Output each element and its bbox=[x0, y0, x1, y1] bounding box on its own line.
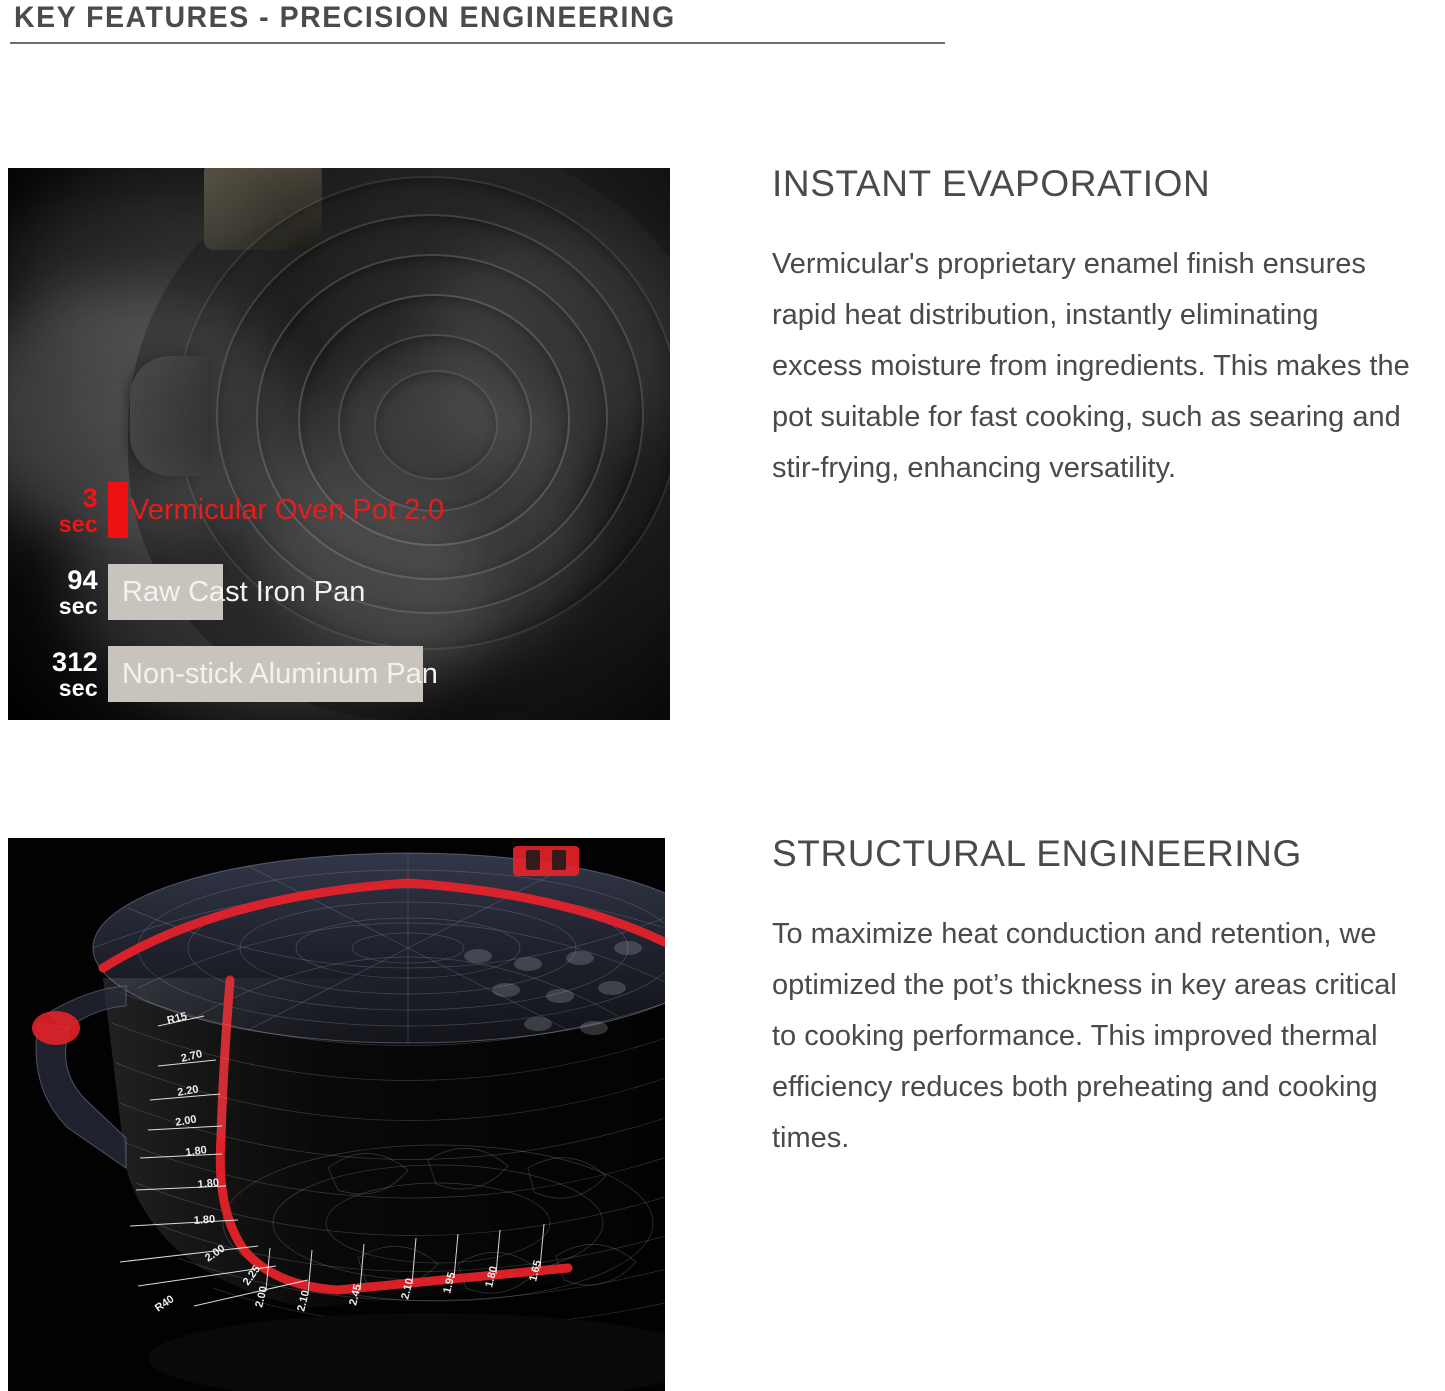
evaporation-text-block: INSTANT EVAPORATION Vermicular's proprie… bbox=[772, 163, 1412, 494]
svg-text:1.80: 1.80 bbox=[197, 1177, 220, 1191]
bar-value-unit: sec bbox=[8, 676, 98, 701]
cad-wireframe-svg: R15 2.70 2.20 2.00 1.80 1.80 1.80 2.00 2… bbox=[8, 838, 665, 1391]
bar-category-label: Non-stick Aluminum Pan bbox=[108, 658, 438, 691]
bar-category-label: Raw Cast Iron Pan bbox=[108, 576, 365, 609]
evaporation-bar-chart: 3 sec Vermicular Oven Pot 2.0 94 sec Raw… bbox=[8, 168, 670, 720]
svg-text:R40: R40 bbox=[153, 1293, 176, 1314]
evaporation-body: Vermicular's proprietary enamel finish e… bbox=[772, 239, 1412, 494]
bar-value-label: 94 sec bbox=[8, 566, 108, 619]
bar-value-number: 3 bbox=[83, 483, 98, 513]
chart-bar-row: 312 sec Non-stick Aluminum Pan bbox=[8, 646, 438, 702]
bar-track: Non-stick Aluminum Pan bbox=[108, 646, 438, 702]
bar-value-number: 312 bbox=[52, 647, 98, 677]
bar-value-label: 312 sec bbox=[8, 648, 108, 701]
bar-value-label: 3 sec bbox=[8, 484, 108, 537]
chart-bar-row: 3 sec Vermicular Oven Pot 2.0 bbox=[8, 482, 444, 538]
structure-media: R15 2.70 2.20 2.00 1.80 1.80 1.80 2.00 2… bbox=[8, 838, 665, 1391]
page-banner: KEY FEATURES - PRECISION ENGINEERING bbox=[0, 0, 945, 46]
bar-category-label: Vermicular Oven Pot 2.0 bbox=[108, 494, 444, 527]
svg-text:1.80: 1.80 bbox=[193, 1214, 215, 1227]
banner-divider bbox=[10, 42, 945, 44]
structure-body: To maximize heat conduction and retentio… bbox=[772, 909, 1412, 1164]
bar-value-unit: sec bbox=[8, 512, 98, 537]
evaporation-heading: INSTANT EVAPORATION bbox=[772, 163, 1412, 205]
cad-wireframe: R15 2.70 2.20 2.00 1.80 1.80 1.80 2.00 2… bbox=[8, 838, 665, 1391]
page-title: KEY FEATURES - PRECISION ENGINEERING bbox=[14, 1, 676, 35]
structure-heading: STRUCTURAL ENGINEERING bbox=[772, 833, 1412, 875]
evaporation-media: 3 sec Vermicular Oven Pot 2.0 94 sec Raw… bbox=[8, 168, 670, 720]
structure-text-block: STRUCTURAL ENGINEERING To maximize heat … bbox=[772, 833, 1412, 1164]
bar-track: Vermicular Oven Pot 2.0 bbox=[108, 482, 444, 538]
bar-value-number: 94 bbox=[67, 565, 98, 595]
bar-track: Raw Cast Iron Pan bbox=[108, 564, 365, 620]
bar-value-unit: sec bbox=[8, 594, 98, 619]
chart-bar-row: 94 sec Raw Cast Iron Pan bbox=[8, 564, 365, 620]
